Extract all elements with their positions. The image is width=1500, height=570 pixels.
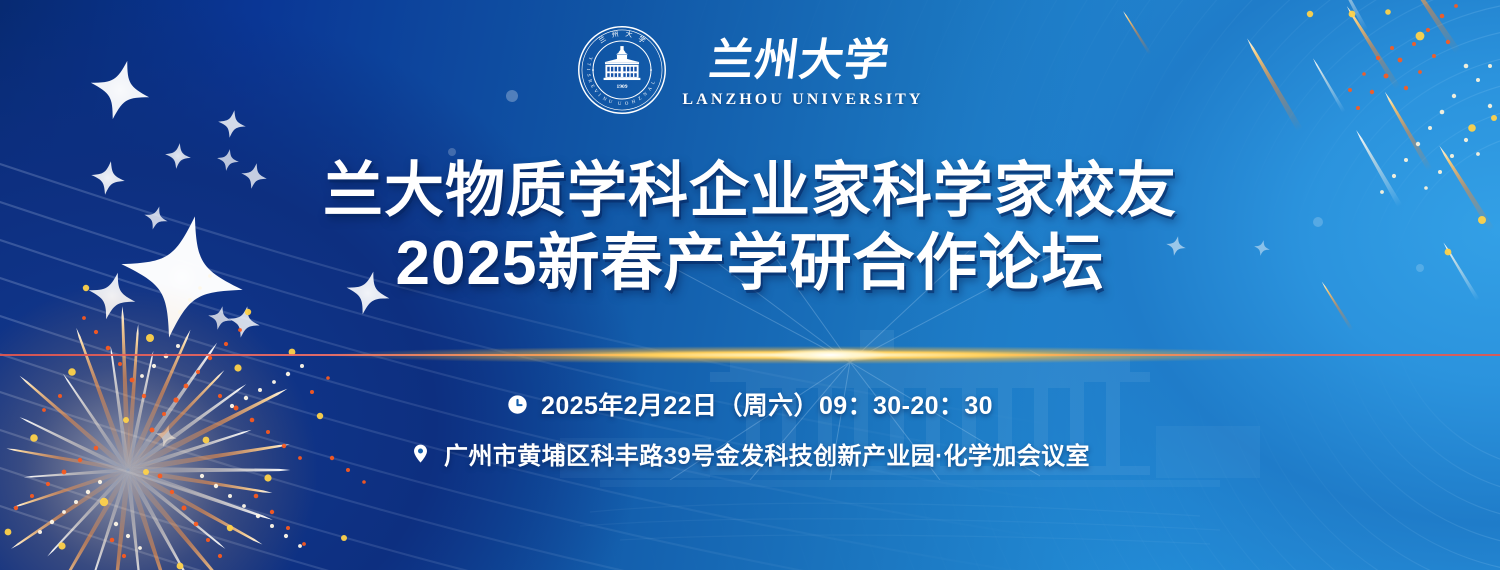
svg-text:E: E — [589, 84, 595, 89]
event-title: 兰大物质学科企业家科学家校友 2025新春产学研合作论坛 — [0, 156, 1500, 300]
clock-icon — [507, 394, 528, 415]
event-location-text: 广州市黄埔区科丰路39号金发科技创新产业园·化学加会议室 — [444, 436, 1090, 471]
svg-text:学: 学 — [637, 34, 648, 45]
university-wordmark: 兰州大学 LANZHOU UNIVERSITY — [682, 32, 923, 109]
event-datetime-row: 2025年2月22日（周六）09：30-20：30 — [507, 386, 993, 422]
lanzhou-university-seal-icon: 兰 州 大 学 L A N Z H O U U N I V E R S — [576, 24, 668, 116]
svg-text:R: R — [587, 79, 593, 84]
university-name-cn-text: 兰州大学 — [706, 36, 892, 85]
brand-header: 兰 州 大 学 L A N Z H O U U N I V E R S — [0, 22, 1500, 118]
university-name-cn-icon: 兰州大学 — [703, 32, 903, 88]
svg-text:S: S — [586, 74, 591, 78]
event-location-row: 广州市黄埔区科丰路39号金发科技创新产业园·化学加会议室 — [410, 436, 1090, 471]
svg-text:I: I — [597, 93, 602, 98]
svg-text:州: 州 — [611, 30, 619, 39]
svg-text:Y: Y — [587, 56, 593, 61]
event-datetime-text: 2025年2月22日（周六）09：30-20：30 — [541, 386, 993, 422]
emblem-year: 1909 — [617, 84, 628, 90]
svg-text:U: U — [608, 99, 613, 105]
svg-text:L: L — [651, 81, 657, 86]
event-title-line-1: 兰大物质学科企业家科学家校友 — [323, 156, 1177, 226]
svg-text:V: V — [593, 89, 599, 95]
svg-text:U: U — [618, 102, 622, 107]
svg-text:H: H — [632, 99, 637, 105]
svg-text:N: N — [602, 97, 608, 103]
event-title-line-2: 2025新春产学研合作论坛 — [396, 228, 1105, 300]
svg-text:A: A — [648, 86, 654, 92]
divider-core-flare — [770, 346, 890, 364]
university-name-en: LANZHOU UNIVERSITY — [682, 91, 923, 109]
location-pin-icon — [410, 443, 431, 464]
svg-text:I: I — [585, 69, 590, 71]
svg-text:O: O — [625, 101, 630, 107]
svg-text:N: N — [643, 91, 649, 97]
event-info: 2025年2月22日（周六）09：30-20：30 广州市黄埔区科丰路39号金发… — [0, 386, 1500, 471]
svg-text:Z: Z — [638, 96, 643, 102]
svg-text:兰: 兰 — [597, 34, 608, 45]
svg-text:T: T — [586, 62, 591, 66]
event-banner: 兰 州 大 学 L A N Z H O U U N I V E R S — [0, 0, 1500, 570]
